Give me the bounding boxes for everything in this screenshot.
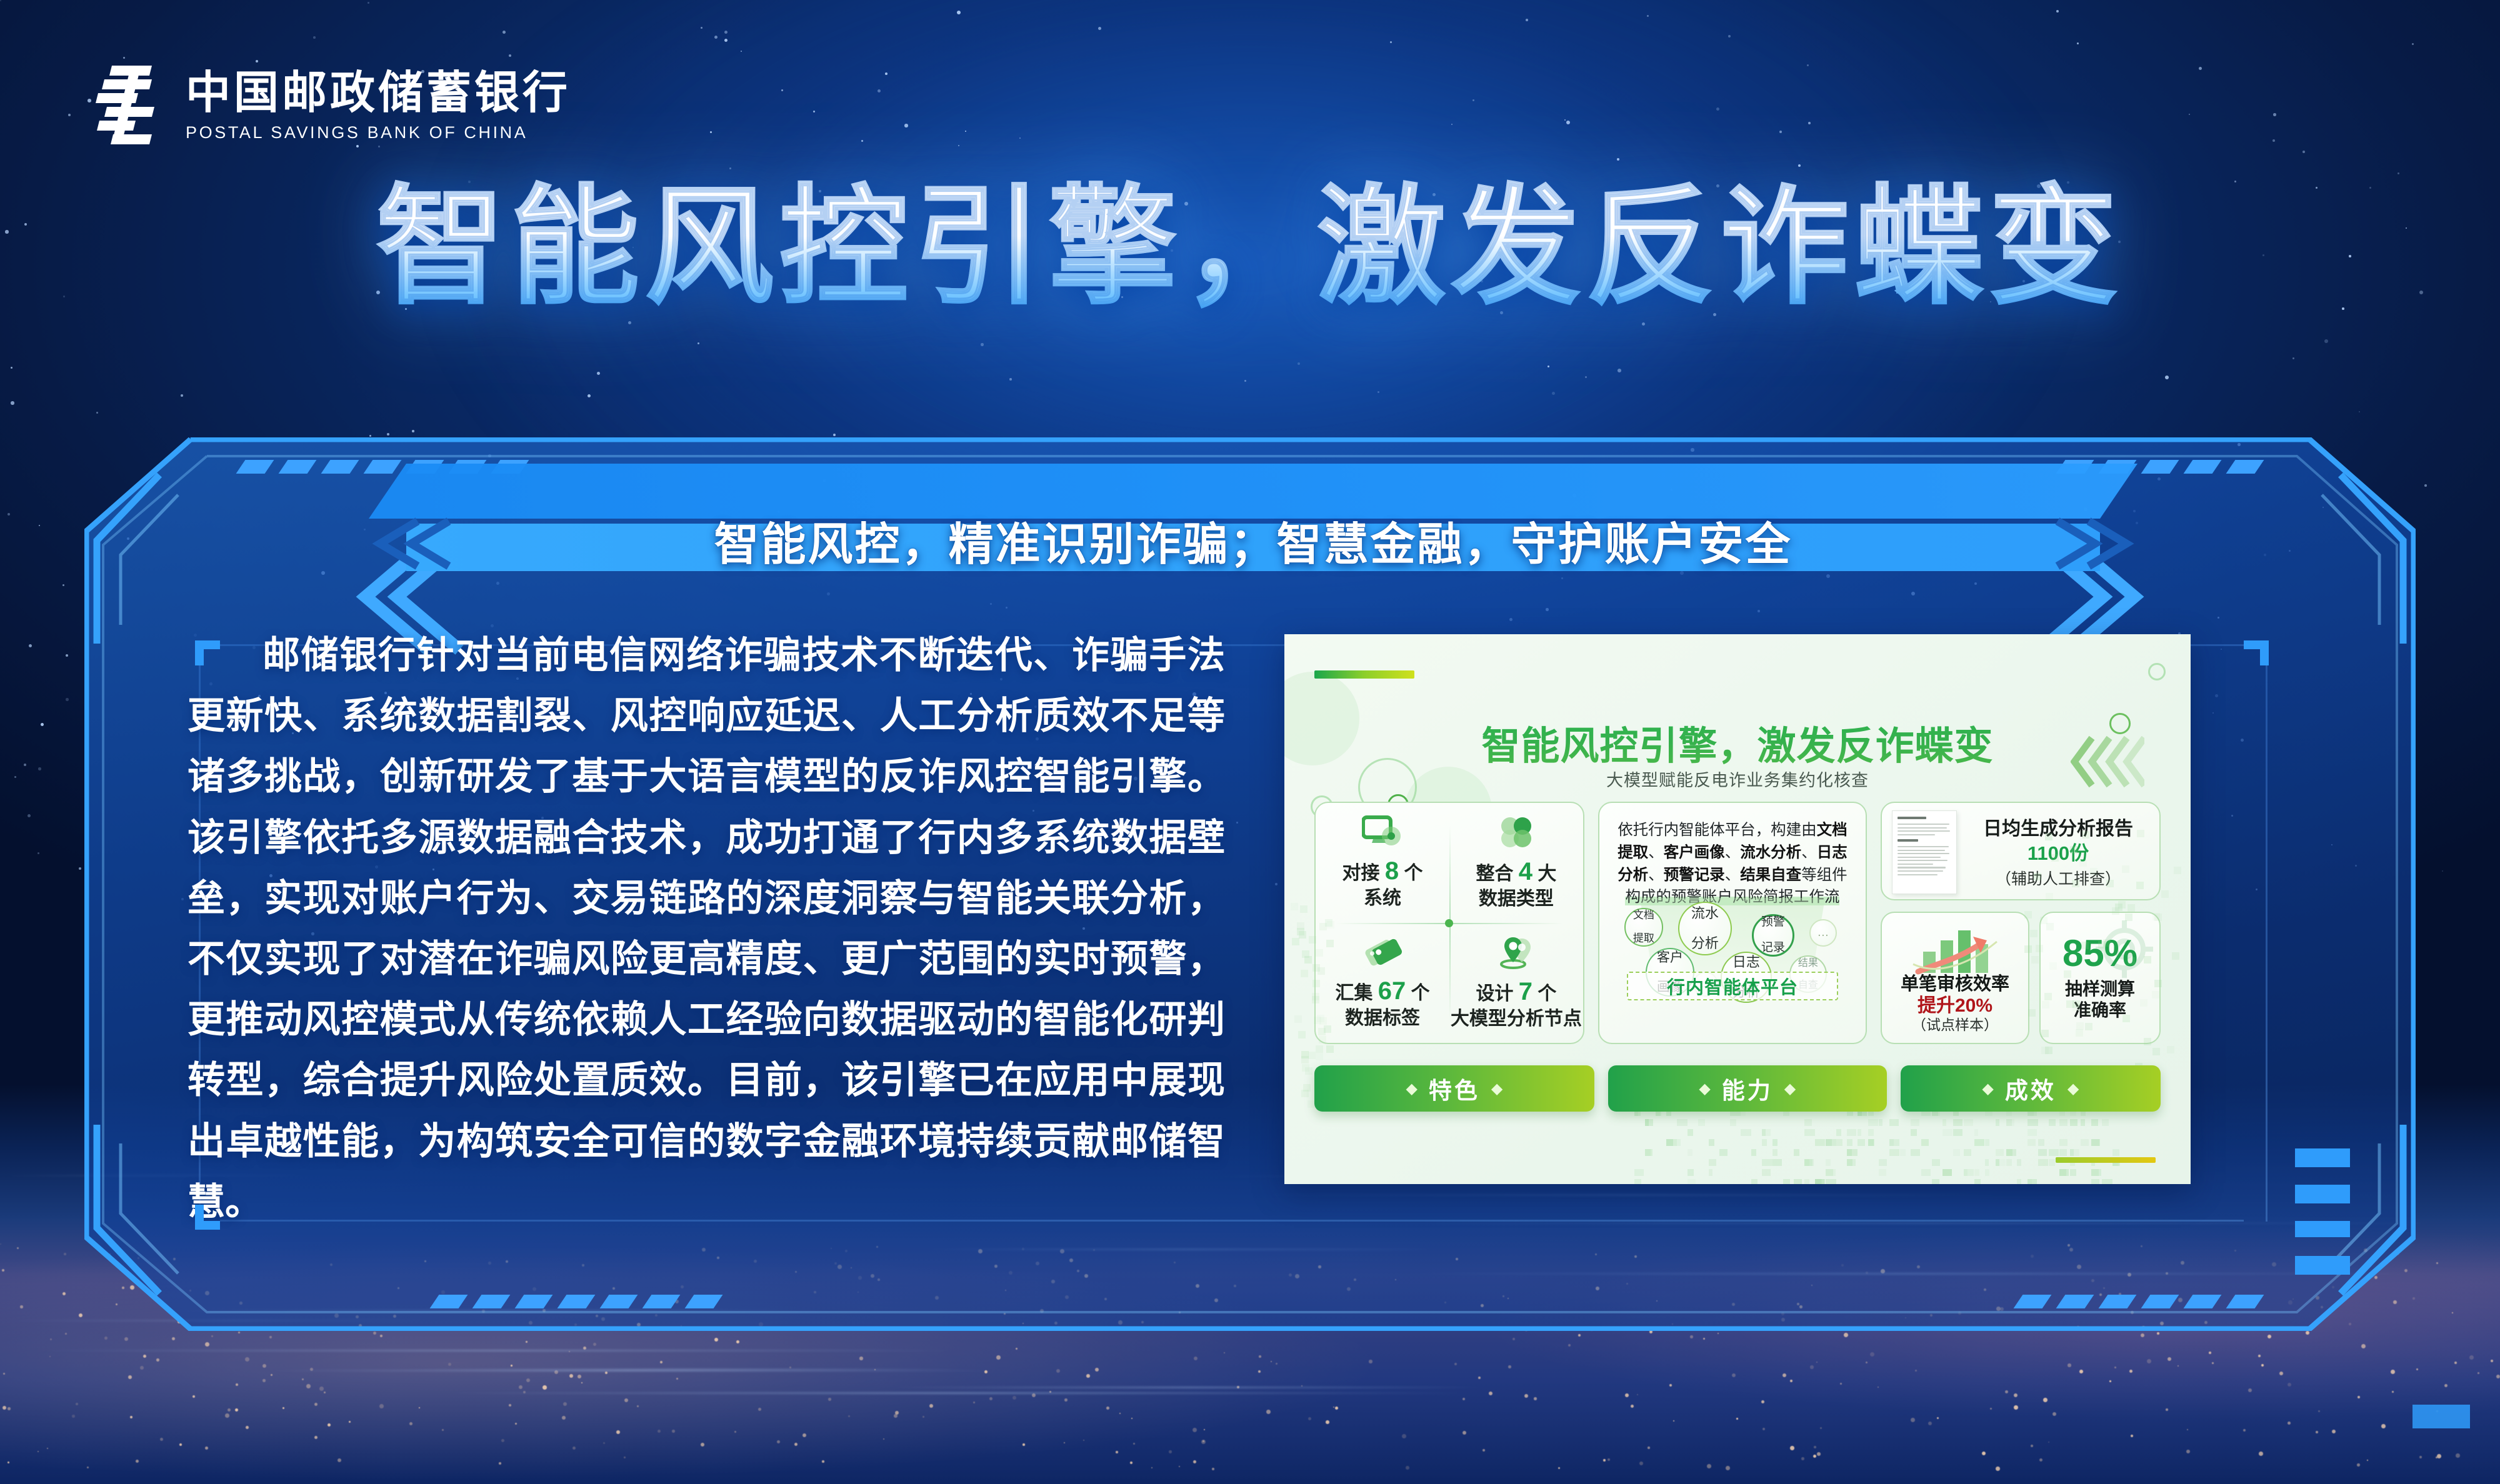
monitor-gear-icon (1362, 815, 1403, 850)
bubble-label-1: 预警 (1761, 916, 1785, 929)
doc-line (1897, 864, 1933, 865)
frame-stripe (2226, 460, 2264, 474)
doc-line (1897, 853, 1949, 854)
frame-stripe (2226, 1295, 2264, 1308)
diamond-icon: ◆ (1406, 1080, 1417, 1098)
capability-line2-bold4: 日志 (1817, 844, 1847, 861)
ribbon-result[interactable]: ◆ 成效 ◆ (1901, 1065, 2161, 1112)
quadrant-cell-data-tags: 汇集 67 个 数据标签 (1316, 923, 1449, 1043)
frame-stripe (2099, 1295, 2137, 1308)
side-bar-2 (2295, 1185, 2350, 1203)
doc-line (1897, 867, 1946, 868)
ribbon-feature[interactable]: ◆ 特色 ◆ (1314, 1065, 1594, 1112)
subtitle-banner: 智能风控，精准识别诈骗；智慧金融，守护账户安全 (369, 464, 2137, 571)
doc-line (1897, 824, 1949, 825)
report-document-icon (1892, 810, 1957, 894)
doc-line (1897, 834, 1935, 835)
quadrant-number: 67 (1378, 977, 1406, 1005)
side-bar-5 (2412, 1405, 2470, 1428)
ribbon-label: 能力 (1722, 1072, 1773, 1105)
infographic-subtitle: 大模型赋能反电诈业务集约化核查 (1284, 767, 2191, 791)
infographic-card-row: 对接 8 个 系统 整合 4 (1314, 802, 2161, 1044)
doc-line (1897, 850, 1945, 851)
capability-line3-bold1: 分析 (1617, 867, 1648, 884)
bubble-ellipsis-1: … (1809, 919, 1837, 947)
platform-label-box: 行内智能体平台 (1627, 972, 1838, 1000)
report-title: 日均生成分析报告 (1964, 818, 2152, 840)
diamond-icon: ◆ (2067, 1080, 2079, 1098)
psbc-logo-icon (97, 66, 167, 147)
result-card-accuracy: 85% 抽样测算 准确率 (2039, 912, 2161, 1044)
quadrant-prefix: 对接 (1342, 863, 1380, 884)
bubble-label-1: … (1817, 927, 1829, 940)
quadrant-number: 8 (1385, 857, 1399, 885)
bubble-label-2: 记录 (1761, 942, 1785, 955)
quadrant-cell-analysis-nodes: 设计 7 个 大模型分析节点 (1449, 923, 1583, 1043)
capability-line3-tail: 等组件 (1801, 867, 1847, 884)
accent-bar (1314, 670, 1414, 679)
quadrant-unit: 个 (1404, 863, 1422, 884)
side-bar-3 (2295, 1221, 2350, 1237)
frame-stripe (236, 460, 274, 474)
bubble-flow-analysis: 流水分析 (1678, 902, 1732, 955)
infographic-title: 智能风控引擎，激发反诈蝶变 (1284, 714, 2191, 770)
frame-stripe (2184, 1295, 2222, 1308)
capability-bubble-diagram: 文档提取 流水分析 预警记录 客户画像 日志分析 结果自查 … (1611, 898, 1854, 1008)
doc-line (1897, 860, 1947, 861)
bubble-label-1: 流水 (1691, 906, 1719, 921)
quadrant-suffix: 数据类型 (1479, 889, 1554, 909)
feature-card: 对接 8 个 系统 整合 4 (1314, 802, 1584, 1044)
doc-line (1897, 827, 1947, 829)
result-card-row: 单笔审核效率 提升20% （试点样本） 85% 抽样测算 (1881, 912, 2161, 1044)
brand-logo: 中国邮政储蓄银行 POSTAL SAVINGS BANK OF CHINA (97, 66, 571, 147)
capability-card: 依托行内智能体平台，构建由文档 提取、客户画像、流水分析、日志 分析、预警记录、… (1598, 802, 1867, 1044)
capability-line2-bold2: 客户画像 (1664, 844, 1725, 861)
quadrant-label: 对接 8 个 系统 (1342, 855, 1423, 910)
subtitle-text: 智能风控，精准识别诈骗；智慧金融，守护账户安全 (369, 507, 2137, 573)
ribbon-row: ◆ 特色 ◆ ◆ 能力 ◆ ◆ 成效 ◆ (1314, 1065, 2161, 1112)
capability-line3-bold2: 预警记录 (1664, 867, 1725, 884)
capability-line3-bold3: 结果自查 (1740, 867, 1801, 884)
accuracy-value: 85% (2062, 935, 2137, 972)
efficiency-metric: 单笔审核效率 提升20% （试点样本） (1882, 913, 2028, 1043)
frame-stripe (430, 1295, 468, 1308)
quadrant-cell-systems: 对接 8 个 系统 (1316, 803, 1449, 923)
doc-line (1897, 817, 1926, 819)
frame-stripe (642, 1295, 681, 1308)
quadrant-suffix: 系统 (1364, 888, 1401, 909)
body-paragraph: 邮储银行针对当前电信网络诈骗技术不断迭代、诈骗手法更新快、系统数据割裂、风控响应… (187, 625, 1225, 1232)
quadrant-label: 整合 4 大 数据类型 (1476, 856, 1556, 911)
quadrant-number: 4 (1519, 858, 1532, 885)
capability-line2-bold3: 流水分析 (1740, 844, 1801, 861)
capability-line1-pre: 依托行内智能体平台，构建由 (1617, 822, 1817, 839)
quadrant-suffix: 数据标签 (1345, 1008, 1420, 1028)
accuracy-label-line2: 准确率 (2074, 1000, 2126, 1020)
infographic-panel: 智能风控引擎，激发反诈蝶变 大模型赋能反电诈业务集约化核查 (1284, 634, 2191, 1184)
quadrant-unit: 个 (1411, 983, 1430, 1003)
quadrant-unit: 个 (1537, 984, 1556, 1004)
capability-line1-bold: 文档 (1817, 822, 1847, 839)
sep: 、 (1725, 867, 1741, 884)
accuracy-metric: 85% 抽样测算 准确率 (2041, 913, 2159, 1043)
quadrant-label: 汇集 67 个 数据标签 (1335, 975, 1429, 1030)
ribbon-label: 特色 (1429, 1072, 1480, 1105)
bubble-label-1: 文档 (1633, 910, 1654, 922)
capability-line2-bold1: 提取 (1617, 844, 1648, 861)
diamond-icon: ◆ (1982, 1080, 1993, 1098)
quadrant-number: 7 (1519, 978, 1532, 1005)
frame-stripe (2184, 460, 2222, 474)
side-bar-4 (2295, 1256, 2350, 1275)
bubble-label-1: 客户 (1657, 950, 1683, 965)
map-pin-icon (1497, 935, 1536, 971)
doc-line (1897, 839, 1918, 842)
green-chevron-decoration-icon (2071, 732, 2144, 792)
quadrant-prefix: 汇集 (1335, 983, 1372, 1003)
efficiency-note: （试点样本） (1912, 1017, 1998, 1034)
bubble-label-2: 分析 (1691, 936, 1719, 951)
bubble-label-1: 结果 (1798, 958, 1818, 969)
doc-line (1897, 870, 1943, 872)
frame-stripe-row-bottom-left (434, 1295, 718, 1308)
side-bar-1 (2295, 1148, 2350, 1167)
frame-stripe-row-bottom-right (2018, 1295, 2259, 1308)
quadrant-suffix: 大模型分析节点 (1451, 1008, 1582, 1029)
frame-stripe (2141, 1295, 2179, 1308)
efficiency-label: 单笔审核效率 (1901, 974, 2009, 995)
capability-description: 依托行内智能体平台，构建由文档 提取、客户画像、流水分析、日志 分析、预警记录、… (1614, 819, 1851, 909)
ribbon-label: 成效 (2005, 1072, 2056, 1105)
frame-stripe (472, 1295, 511, 1308)
doc-line (1897, 874, 1937, 875)
result-card-reports: 日均生成分析报告 1100份 （辅助人工排查） (1881, 802, 2161, 900)
efficiency-value: 提升20% (1917, 995, 1992, 1017)
quadrant-unit: 大 (1537, 864, 1556, 884)
doc-line (1897, 846, 1949, 847)
doc-line (1897, 830, 1950, 832)
frame-stripe (2014, 1295, 2052, 1308)
sep: 、 (1648, 867, 1664, 884)
diamond-icon: ◆ (1784, 1080, 1796, 1098)
clover-icon (1497, 815, 1535, 851)
frame-stripe (279, 460, 317, 474)
frame-stripe (2056, 1295, 2094, 1308)
quadrant-prefix: 整合 (1476, 864, 1513, 884)
ribbon-capability[interactable]: ◆ 能力 ◆ (1608, 1065, 1887, 1112)
frame-stripe (557, 1295, 596, 1308)
sep: 、 (1648, 844, 1664, 861)
frame-stripe (2141, 460, 2179, 474)
frame-stripe (600, 1295, 638, 1308)
sep: 、 (1801, 844, 1817, 861)
bubble-alert-record: 预警记录 (1752, 914, 1794, 957)
bottom-accent-bar (2056, 1157, 2156, 1163)
brand-name-zh: 中国邮政储蓄银行 (186, 71, 571, 116)
result-card-efficiency: 单笔审核效率 提升20% （试点样本） (1881, 912, 2029, 1044)
platform-label: 行内智能体平台 (1667, 973, 1798, 999)
bubble-doc-extract: 文档提取 (1624, 908, 1663, 947)
deco-ring (2148, 663, 2166, 680)
quadrant-cell-data-types: 整合 4 大 数据类型 (1449, 803, 1583, 923)
tags-icon (1362, 935, 1403, 970)
diamond-icon: ◆ (1699, 1080, 1710, 1098)
bubble-label-2: 提取 (1633, 933, 1654, 945)
brand-name-en: POSTAL SAVINGS BANK OF CHINA (186, 123, 571, 142)
bubble-label-1: 日志 (1732, 955, 1760, 970)
doc-line (1897, 857, 1941, 858)
sep: 、 (1725, 844, 1741, 861)
result-card-group: 日均生成分析报告 1100份 （辅助人工排查） (1881, 802, 2161, 1044)
accuracy-label-line1: 抽样测算 (2065, 979, 2135, 998)
quadrant-prefix: 设计 (1476, 984, 1513, 1004)
frame-stripe (321, 460, 359, 474)
quadrant-grid: 对接 8 个 系统 整合 4 (1316, 803, 1583, 1043)
diamond-icon: ◆ (1491, 1080, 1502, 1098)
frame-stripe (685, 1295, 723, 1308)
page-title: 智能风控引擎，激发反诈蝶变 (0, 178, 2500, 316)
frame-stripe (515, 1295, 553, 1308)
quadrant-label: 设计 7 个 大模型分析节点 (1451, 976, 1582, 1031)
